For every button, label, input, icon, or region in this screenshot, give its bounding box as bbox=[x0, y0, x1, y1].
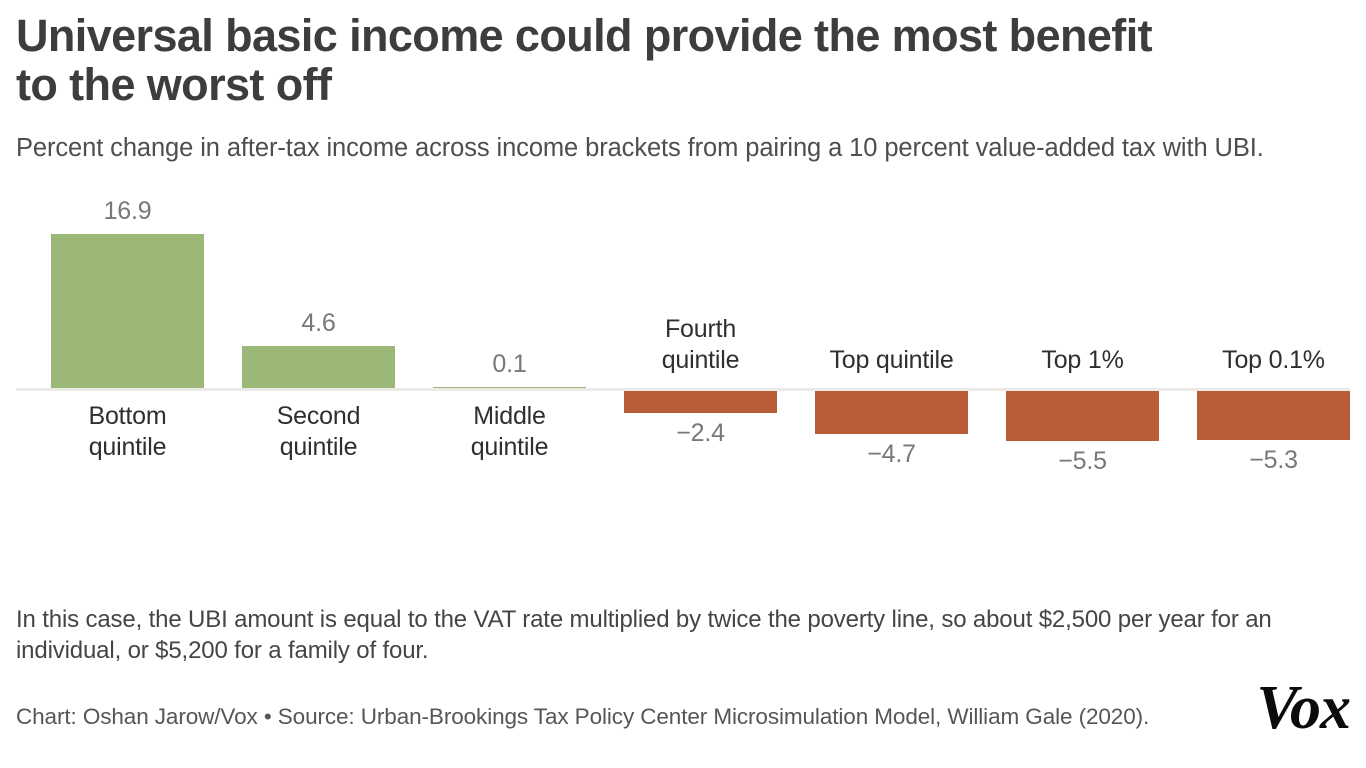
bar-value-label: 16.9 bbox=[51, 197, 204, 226]
bar-group: −4.7Top quintile bbox=[815, 180, 968, 510]
bar-category-label-line1: Middle bbox=[413, 401, 606, 432]
bar[interactable] bbox=[242, 346, 395, 388]
bar[interactable] bbox=[624, 391, 777, 413]
bar-value-label: −2.4 bbox=[624, 419, 777, 448]
bar-category-label: Bottomquintile bbox=[31, 401, 224, 463]
source-row: Chart: Oshan Jarow/Vox • Source: Urban-B… bbox=[16, 678, 1350, 731]
bar-category-label-line1: Top 0.1% bbox=[1177, 345, 1366, 376]
bar-value-label: −5.3 bbox=[1197, 446, 1350, 475]
bar[interactable] bbox=[815, 391, 968, 434]
bar[interactable] bbox=[433, 387, 586, 388]
bar-value-label: −4.7 bbox=[815, 440, 968, 469]
bar-category-label-line2: quintile bbox=[413, 432, 606, 463]
bar-value-label: 4.6 bbox=[242, 309, 395, 338]
bar-category-label: Secondquintile bbox=[222, 401, 415, 463]
bar-group: 0.1Middlequintile bbox=[433, 180, 586, 510]
bar-value-label: −5.5 bbox=[1006, 447, 1159, 476]
bar[interactable] bbox=[51, 234, 204, 388]
chart-source: Chart: Oshan Jarow/Vox • Source: Urban-B… bbox=[16, 702, 1149, 732]
bar-category-label-line1: Fourth bbox=[604, 314, 797, 345]
bar-category-label-line1: Top quintile bbox=[795, 345, 988, 376]
chart-footer: In this case, the UBI amount is equal to… bbox=[16, 604, 1350, 732]
chart-note: In this case, the UBI amount is equal to… bbox=[16, 604, 1306, 666]
bar-category-label-line1: Bottom bbox=[31, 401, 224, 432]
bar-category-label-line2: quintile bbox=[222, 432, 415, 463]
bar-group: 4.6Secondquintile bbox=[242, 180, 395, 510]
bar-value-label: 0.1 bbox=[433, 350, 586, 379]
bar-category-label-line2: quintile bbox=[31, 432, 224, 463]
bar-category-label: Top quintile bbox=[795, 345, 988, 376]
bar[interactable] bbox=[1197, 391, 1350, 439]
bar-chart: 16.9Bottomquintile4.6Secondquintile0.1Mi… bbox=[16, 180, 1350, 510]
bar-group: −2.4Fourthquintile bbox=[624, 180, 777, 510]
bar-group: −5.3Top 0.1% bbox=[1197, 180, 1350, 510]
bar-category-label-line1: Second bbox=[222, 401, 415, 432]
bar-category-label: Fourthquintile bbox=[604, 314, 797, 376]
bar-group: 16.9Bottomquintile bbox=[51, 180, 204, 510]
page-title: Universal basic income could provide the… bbox=[16, 0, 1196, 109]
bar-category-label: Top 0.1% bbox=[1177, 345, 1366, 376]
chart-page: Universal basic income could provide the… bbox=[0, 0, 1366, 768]
bar-category-label: Middlequintile bbox=[413, 401, 606, 463]
vox-logo: Vox bbox=[1257, 682, 1350, 735]
bar-category-label: Top 1% bbox=[986, 345, 1179, 376]
bar-category-label-line2: quintile bbox=[604, 345, 797, 376]
chart-subtitle: Percent change in after-tax income acros… bbox=[16, 109, 1346, 164]
bar-group: −5.5Top 1% bbox=[1006, 180, 1159, 510]
bar[interactable] bbox=[1006, 391, 1159, 441]
bar-category-label-line1: Top 1% bbox=[986, 345, 1179, 376]
